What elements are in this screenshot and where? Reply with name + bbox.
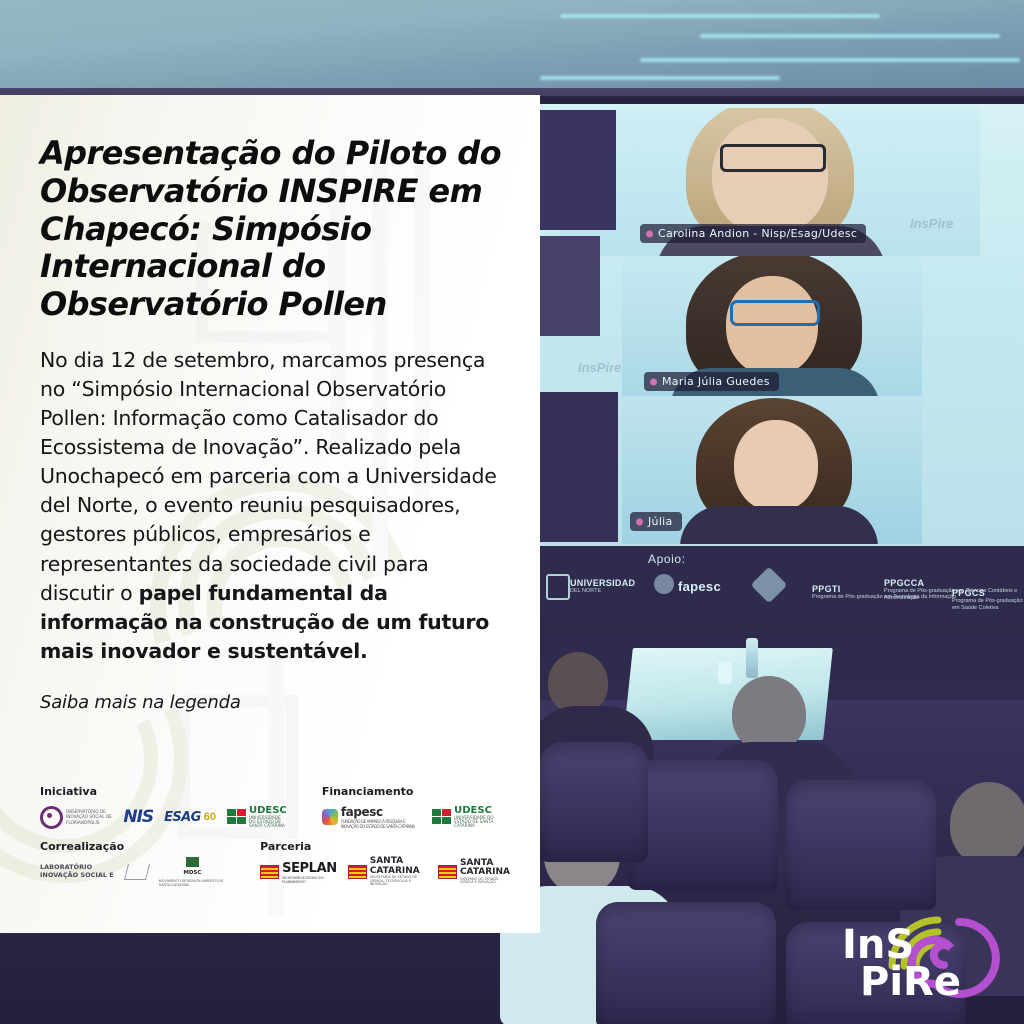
santa-catarina-flag-icon [348, 865, 367, 879]
audience-head [950, 782, 1024, 866]
auditorium-seat [596, 902, 776, 1024]
glasses-icon [720, 144, 826, 172]
logo-santa-catarina-2: SANTA CATARINA GOVERNO DO ESTADO, CIÊNCI… [438, 859, 510, 885]
water-bottle [746, 638, 758, 678]
logo-sub: OBSERVATÓRIO DE INOVAÇÃO SOCIAL DE FLORI… [66, 809, 112, 825]
ceiling-light-streak [700, 34, 1000, 38]
sponsor-name: UNIVERSIDAD [570, 578, 635, 588]
credits-logo-strip: fapesc FUNDAÇÃO DE AMPARO À PESQUISA E I… [322, 802, 510, 832]
post-body-plain: No dia 12 de setembro, marcamos presença… [40, 348, 497, 605]
video-tile-side-left [540, 392, 618, 542]
logo-seplan: SEPLAN SECRETARIA DE ESTADO DO PLANEJAME… [260, 861, 337, 884]
logo-udesc: UDESC UNIVERSIDADE DO ESTADO DE SANTA CA… [227, 806, 288, 829]
card-text-block: Apresentação do Piloto do Observatório I… [0, 95, 540, 713]
logo-sub: SECRETARIA DE ESTADO DE CIÊNCIA, TECNOLO… [370, 876, 427, 887]
credits-heading-correalizacao: Correalização [40, 840, 226, 853]
call-watermark: InsPire [578, 360, 621, 375]
logo-sub: MOVIMENTO DESENVOLVIMENTO DE SANTA CATAR… [159, 879, 226, 887]
ceiling-light-streak [540, 76, 780, 80]
credits-group-correalizacao: Correalização LABORATÓRIO INOVAÇÃO SOCIA… [40, 840, 226, 887]
participant-name-chip: Carolina Andion - Nisp/Esag/Udesc [640, 224, 866, 243]
credits-heading-parceria: Parceria [260, 840, 510, 853]
audience-head [548, 652, 608, 714]
sponsor-sub: Programa de Pós-graduação em Saúde Colet… [952, 598, 1024, 611]
apoio-label: Apoio: [648, 552, 686, 566]
logo-label: UDESC UNIVERSIDADE DO ESTADO DE SANTA CA… [249, 806, 288, 829]
logo-observatorio: OBSERVATÓRIO DE INOVAÇÃO SOCIAL DE FLORI… [40, 806, 112, 829]
logo-label: UDESC UNIVERSIDADE DO ESTADO DE SANTA CA… [454, 806, 510, 829]
credits-group-iniciativa: Iniciativa OBSERVATÓRIO DE INOVAÇÃO SOCI… [40, 785, 288, 832]
logo-sub: SECRETARIA DE ESTADO DO PLANEJAMENTO [282, 876, 337, 884]
participant-name-chip: Maria Júlia Guedes [644, 372, 779, 391]
credits-footer: Iniciativa OBSERVATÓRIO DE INOVAÇÃO SOCI… [40, 785, 510, 895]
logo-label: fapesc FUNDAÇÃO DE AMPARO À PESQUISA E I… [341, 805, 421, 829]
logo-name: SANTA CATARINA [370, 856, 420, 875]
logo-name: SEPLAN [282, 861, 337, 876]
santa-catarina-flag-icon [260, 865, 279, 879]
inspire-brand-logo: InS PiRe [836, 896, 1006, 1001]
glasses-icon [730, 300, 820, 326]
credits-heading-iniciativa: Iniciativa [40, 785, 288, 798]
logo-sub: GOVERNO DO ESTADO, CIÊNCIA E INOVAÇÃO [460, 878, 510, 885]
social-media-poster: Carolina Andion - Nisp/Esag/Udesc Maria … [0, 0, 1024, 1024]
video-tile-side-left [540, 110, 616, 230]
page-title: Apresentação do Piloto do Observatório I… [40, 135, 506, 324]
udesc-flag-icon [432, 809, 451, 824]
logo-label: NIS [123, 807, 153, 827]
logo-label: ESAG [164, 810, 201, 825]
participant-face [726, 276, 818, 376]
sponsor-name: PPGTI [812, 584, 841, 594]
universidad-del-norte-mark [546, 574, 570, 600]
post-body: No dia 12 de setembro, marcamos presença… [40, 346, 506, 666]
logo-label: SANTA CATARINA GOVERNO DO ESTADO, CIÊNCI… [460, 859, 510, 885]
credits-heading-financiamento: Financiamento [322, 785, 510, 798]
auditorium-seat [540, 742, 648, 862]
sponsor-ppgcs: PPGCS Programa de Pós-graduação em Saúde… [952, 588, 1024, 611]
sponsor-name: PPGCS [952, 588, 985, 598]
logo-label: SANTA CATARINA SECRETARIA DE ESTADO DE C… [370, 857, 427, 887]
logo-esag: ESAG 60 [164, 810, 216, 825]
logo-sub: UNIVERSIDADE DO ESTADO DE SANTA CATARINA [454, 816, 510, 829]
logo-sub: FUNDAÇÃO DE AMPARO À PESQUISA E INOVAÇÃO… [341, 819, 421, 829]
logo-sub: UNIVERSIDADE DO ESTADO DE SANTA CATARINA [249, 816, 288, 829]
credits-logo-strip: LABORATÓRIO INOVAÇÃO SOCIAL E MDSC MOVIM… [40, 857, 226, 887]
mdsc-icon [186, 857, 199, 867]
logo-name: fapesc [341, 805, 383, 819]
credits-group-parceria: Parceria SEPLAN SECRETARIA DE ESTADO DO … [260, 840, 510, 887]
logo-label: SEPLAN SECRETARIA DE ESTADO DO PLANEJAME… [282, 861, 337, 884]
logo-udesc: UDESC UNIVERSIDADE DO ESTADO DE SANTA CA… [432, 806, 510, 829]
participant-face [734, 420, 818, 512]
fapesc-mark [654, 574, 674, 594]
santa-catarina-flag-icon [438, 865, 457, 879]
logo-label: LABORATÓRIO INOVAÇÃO SOCIAL E [40, 864, 123, 880]
inspire-logo-svg: InS PiRe [836, 896, 1006, 1001]
sponsor-fapesc: fapesc [678, 580, 721, 595]
sponsor-sub: DEL NORTE [570, 588, 635, 594]
logo-lis: LABORATÓRIO INOVAÇÃO SOCIAL E [40, 864, 148, 880]
cta-text: Saiba mais na legenda [40, 692, 506, 713]
logo-anniversary: 60 [204, 811, 216, 823]
lis-triangle-icon [126, 864, 148, 880]
logo-nis: NIS [123, 807, 153, 827]
participant-shoulders [680, 506, 878, 544]
logo-santa-catarina-1: SANTA CATARINA SECRETARIA DE ESTADO DE C… [348, 857, 427, 887]
logo-fapesc: fapesc FUNDAÇÃO DE AMPARO À PESQUISA E I… [322, 805, 421, 829]
fapesc-icon [322, 809, 338, 825]
credits-logo-strip: SEPLAN SECRETARIA DE ESTADO DO PLANEJAME… [260, 857, 510, 887]
sponsor-name: PPGCCA [884, 578, 924, 588]
ceiling-light-streak [560, 14, 880, 18]
sponsor-name: fapesc [678, 579, 721, 594]
audience-head [732, 676, 806, 752]
logo-mdsc: MDSC MOVIMENTO DESENVOLVIMENTO DE SANTA … [159, 857, 226, 887]
logo-label: OBSERVATÓRIO DE INOVAÇÃO SOCIAL DE FLORI… [66, 809, 112, 825]
call-watermark: InsPire [910, 216, 953, 231]
auditorium-seat [786, 780, 936, 910]
credits-group-financiamento: Financiamento fapesc FUNDAÇÃO DE AMPARO … [322, 785, 510, 832]
logo-text-line2: PiRe [860, 959, 961, 1001]
auditorium-seat [628, 760, 778, 890]
participant-face [712, 118, 828, 236]
drinking-glass [718, 662, 732, 684]
logo-label: MDSC [183, 870, 201, 876]
observatorio-swirl-icon [40, 806, 63, 829]
video-tile-side-left [540, 236, 600, 336]
participant-name-chip: Júlia [630, 512, 682, 531]
ceiling-light-streak [640, 58, 1020, 62]
udesc-flag-icon [227, 809, 246, 824]
credits-row-top: Iniciativa OBSERVATÓRIO DE INOVAÇÃO SOCI… [40, 785, 510, 832]
credits-row-bottom: Correalização LABORATÓRIO INOVAÇÃO SOCIA… [40, 840, 510, 887]
credits-logo-strip: OBSERVATÓRIO DE INOVAÇÃO SOCIAL DE FLORI… [40, 802, 288, 832]
logo-name: SANTA CATARINA [460, 858, 510, 877]
sponsor-universidad-del-norte: UNIVERSIDAD DEL NORTE [570, 578, 635, 595]
content-card: Apresentação do Piloto do Observatório I… [0, 95, 540, 933]
